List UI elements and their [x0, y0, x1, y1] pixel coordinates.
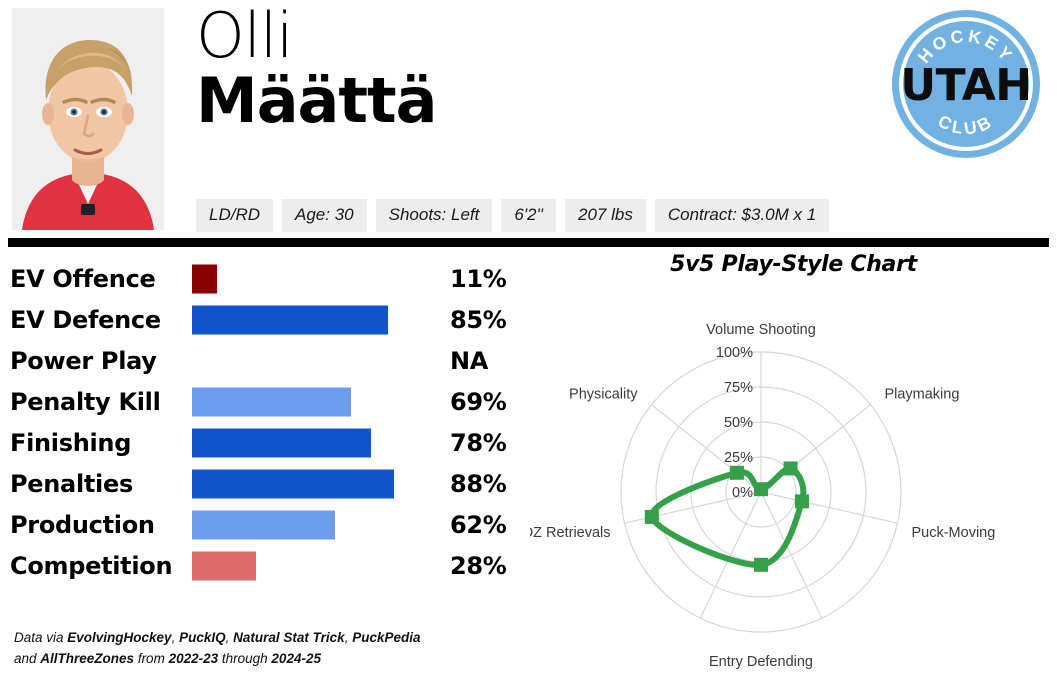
- badge-age: Age: 30: [282, 199, 367, 232]
- player-name-block: Olli Määttä: [196, 6, 876, 132]
- bar-value-ev-defence: 85%: [450, 306, 507, 334]
- bar-value-ev-offence: 11%: [450, 265, 507, 293]
- radar-axis-line: [761, 492, 897, 523]
- bar-fill-competition: [192, 551, 256, 580]
- bar-row: Finishing 78%: [0, 422, 530, 463]
- player-headshot: [12, 8, 164, 230]
- header-divider: [8, 238, 1049, 247]
- footer-line-2: and AllThreeZones from 2022-23 through 2…: [14, 649, 714, 670]
- bar-track: [192, 551, 422, 580]
- footer-sep: ,: [172, 630, 180, 645]
- data-sources-footer: Data via EvolvingHockey, PuckIQ, Natural…: [14, 628, 714, 670]
- badge-contract: Contract: $3.0M x 1: [655, 199, 829, 232]
- badge-shoots: Shoots: Left: [376, 199, 493, 232]
- bar-label-power-play: Power Play: [10, 347, 157, 375]
- radar-marker-playmaking: [784, 461, 798, 475]
- footer-prefix: Data via: [14, 630, 67, 645]
- player-attribute-badges: LD/RD Age: 30 Shoots: Left 6'2'' 207 lbs…: [196, 199, 829, 232]
- footer-sep: ,: [226, 630, 234, 645]
- bar-value-finishing: 78%: [450, 429, 507, 457]
- bar-track: [192, 264, 422, 293]
- bar-label-competition: Competition: [10, 552, 172, 580]
- bar-value-penalty-kill: 69%: [450, 388, 507, 416]
- footer-line-1: Data via EvolvingHockey, PuckIQ, Natural…: [14, 628, 714, 649]
- bar-label-finishing: Finishing: [10, 429, 131, 457]
- bar-value-production: 62%: [450, 511, 507, 539]
- footer-and: and: [14, 651, 40, 666]
- bar-label-production: Production: [10, 511, 155, 539]
- radar-axis-label-playmaking: Playmaking: [884, 387, 959, 403]
- bar-track: [192, 305, 422, 334]
- footer-through: through: [218, 651, 271, 666]
- radar-marker-dz-retrievals: [645, 510, 659, 524]
- bar-value-power-play: NA: [450, 347, 488, 375]
- bar-row: Production 62%: [0, 504, 530, 545]
- bar-row: Penalty Kill 69%: [0, 381, 530, 422]
- bar-fill-finishing: [192, 428, 371, 457]
- bar-value-penalties: 88%: [450, 470, 507, 498]
- radar-tick-label: 75%: [724, 380, 753, 396]
- bar-label-penalty-kill: Penalty Kill: [10, 388, 161, 416]
- bar-value-competition: 28%: [450, 552, 507, 580]
- bar-row: Competition 28%: [0, 545, 530, 586]
- bar-row: EV Defence 85%: [0, 299, 530, 340]
- radar-axis-label-dz-retrievals: DZ Retrievals: [530, 525, 611, 541]
- radar-tick-label: 25%: [724, 450, 753, 466]
- bar-row: Penalties 88%: [0, 463, 530, 504]
- bar-fill-penalty-kill: [192, 387, 351, 416]
- radar-axis-label-physicality: Physicality: [569, 387, 638, 403]
- bar-label-penalties: Penalties: [10, 470, 133, 498]
- badge-weight: 207 lbs: [565, 199, 646, 232]
- source-allthreezones: AllThreeZones: [40, 651, 134, 666]
- bar-fill-penalties: [192, 469, 394, 498]
- radar-marker-entry-defending: [754, 558, 768, 572]
- team-logo: HOCKEY CLUB UTAH: [890, 8, 1042, 160]
- season-end: 2024-25: [271, 651, 321, 666]
- season-start: 2022-23: [169, 651, 219, 666]
- utah-hockey-club-logo-icon: HOCKEY CLUB UTAH: [890, 8, 1042, 160]
- bar-label-ev-offence: EV Offence: [10, 265, 155, 293]
- logo-team-text: UTAH: [900, 60, 1031, 111]
- play-style-radar-panel: 5v5 Play-Style Chart 0%25%50%75%100%Volu…: [530, 250, 1057, 670]
- radar-marker-volume-shooting: [754, 482, 768, 496]
- source-puckiq: PuckIQ: [179, 630, 226, 645]
- source-natural-stat-trick: Natural Stat Trick: [233, 630, 345, 645]
- radar-tick-label: 0%: [732, 485, 753, 501]
- radar-axis-label-puck-moving: Puck-Moving: [911, 525, 995, 541]
- radar-marker-puck-moving: [795, 494, 809, 508]
- source-evolvinghockey: EvolvingHockey: [67, 630, 171, 645]
- radar-tick-label: 100%: [716, 345, 753, 361]
- source-puckpedia: PuckPedia: [352, 630, 420, 645]
- player-card: Olli Määttä LD/RD Age: 30 Shoots: Left 6…: [0, 0, 1057, 685]
- bar-fill-ev-offence: [192, 264, 217, 293]
- headshot-image: [12, 8, 164, 230]
- radar-chart: 0%25%50%75%100%Volume ShootingPlaymaking…: [530, 272, 1057, 670]
- radar-axis-line: [761, 492, 822, 618]
- radar-axis-label-volume-shooting: Volume Shooting: [706, 322, 816, 338]
- bar-row: EV Offence 11%: [0, 258, 530, 299]
- percentile-bar-chart: EV Offence 11% EV Defence 85% Power Play…: [0, 258, 530, 588]
- player-last-name: Määttä: [196, 69, 876, 132]
- badge-height: 6'2'': [501, 199, 556, 232]
- radar-axis-label-entry-defending: Entry Defending: [709, 654, 813, 670]
- bar-row: Power Play NA: [0, 340, 530, 381]
- card-header: Olli Määttä LD/RD Age: 30 Shoots: Left 6…: [0, 0, 1057, 236]
- bar-fill-production: [192, 510, 335, 539]
- bar-label-ev-defence: EV Defence: [10, 306, 161, 334]
- bar-track: [192, 469, 422, 498]
- radar-tick-label: 50%: [724, 415, 753, 431]
- bar-track: [192, 387, 422, 416]
- bar-track: [192, 346, 422, 375]
- footer-from: from: [134, 651, 169, 666]
- bar-track: [192, 428, 422, 457]
- badge-position: LD/RD: [196, 199, 273, 232]
- player-first-name: Olli: [196, 6, 876, 67]
- radar-marker-physicality: [730, 466, 744, 480]
- bar-fill-ev-defence: [192, 305, 388, 334]
- bar-track: [192, 510, 422, 539]
